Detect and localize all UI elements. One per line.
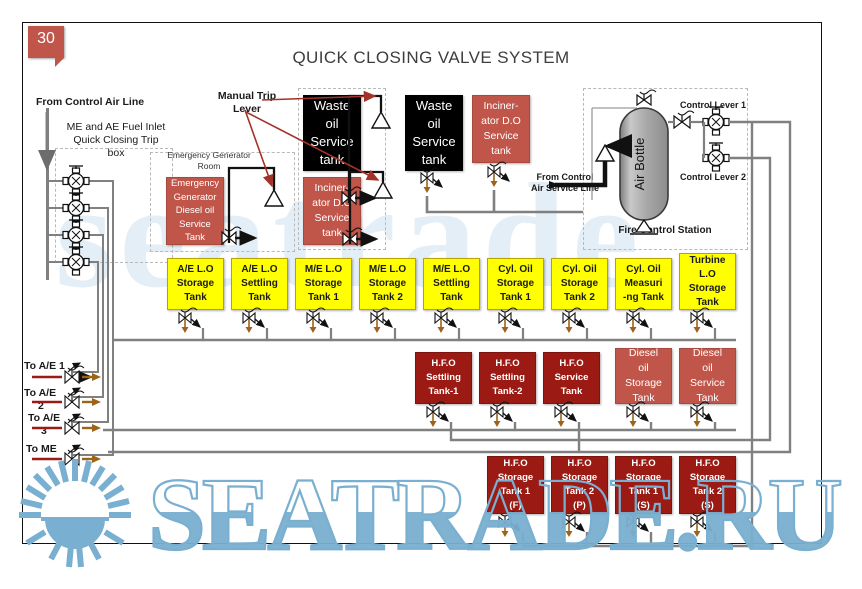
tank-cyl-oil-storage-tank-2[interactable]: Cyl. Oil Storage Tank 2 [551,258,608,310]
label-manual-trip-lever-line1: Manual Trip [192,90,302,103]
tank-line: Tank [175,291,216,305]
tank-line: Tank 1 [624,485,663,499]
tank-incinerator-do-service-tank-1[interactable]: Inciner- ator D.O Service tank [303,177,361,245]
tank-line: H.F.O [553,357,591,371]
tank-line: Generator [169,191,221,205]
tank-line: ator D.O [479,114,523,129]
tank-line: Cyl. Oil [559,263,600,277]
tank-me-lo-storage-tank-1[interactable]: M/E L.O Storage Tank 1 [295,258,352,310]
tank-line: Cyl. Oil [621,263,666,277]
tank-line: M/E L.O [303,263,344,277]
tank-line: Tank 2 [559,291,600,305]
pipe-outlet-rail-1 [73,371,99,373]
label-trip-box-line1: ME and AE Fuel Inlet [56,121,176,134]
label-to-ae-1: To A/E 1 [24,360,65,373]
tank-line: Inciner- [310,181,354,196]
tank-line: H.F.O [424,357,463,371]
tank-line: tank [310,226,354,241]
tank-line: Storage [175,277,216,291]
tank-line: Inciner- [479,99,523,114]
tank-line: (S) [688,499,727,513]
tank-line: Storage [495,277,536,291]
tank-hfo-service-tank[interactable]: H.F.O Service Tank [543,352,600,404]
tank-line: Storage [688,471,727,485]
tank-line: tank [479,144,523,159]
tank-hfo-storage-tank-1-f[interactable]: H.F.O Storage Tank 1 (F) [487,456,544,514]
tank-line: Turbine [687,254,728,268]
tank-line: Diesel [688,346,727,361]
tank-line: -ng Tank [621,291,666,305]
tank-line: Service [553,371,591,385]
tank-line: Tank-2 [488,385,527,399]
tank-line: Tank [688,391,727,406]
pipe-valve-stub-4 [49,261,65,263]
label-control-lever-2: Control Lever 2 [680,172,770,183]
label-fire-control-station: Fire Control Station [600,224,730,237]
pipe-trip-riser-1 [112,180,114,456]
tank-hfo-storage-tank-2-s[interactable]: H.F.O Storage Tank 2 (S) [679,456,736,514]
tank-line: Storage [687,282,728,296]
tank-line: Tank 1 [496,485,535,499]
label-to-ae-3-line1: To A/E [28,412,60,425]
tank-line: Diesel [623,346,664,361]
tank-cyl-oil-storage-tank-1[interactable]: Cyl. Oil Storage Tank 1 [487,258,544,310]
tank-line: A/E L.O [239,263,280,277]
tank-line: Storage [623,376,664,391]
tank-line: Storage [303,277,344,291]
tank-line: oil [410,115,457,133]
label-control-lever-1: Control Lever 1 [680,100,770,111]
tank-line: Settling [424,371,463,385]
pipe-outlet-rail-3 [73,421,109,423]
tank-line: H.F.O [560,457,599,471]
pipe-trip-riser-2 [107,207,109,423]
tank-line: Tank 1 [303,291,344,305]
tank-line: A/E L.O [175,263,216,277]
tank-line: Tank [169,231,221,245]
tank-line: Service [169,218,221,232]
tank-line: (P) [560,499,599,513]
pipe-valve-stub-3 [49,234,65,236]
tank-diesel-oil-storage-tank[interactable]: Diesel oil Storage Tank [615,348,672,404]
tank-line: M/E L.O [367,263,408,277]
tank-hfo-settling-tank-1[interactable]: H.F.O Settling Tank-1 [415,352,472,404]
tank-line: Storage [560,471,599,485]
tank-line: Diesel oil [169,204,221,218]
pipe-trip-riser-3 [102,234,104,398]
tank-line: Tank 2 [560,485,599,499]
label-emergency-generator-room-line2: Room [150,161,268,172]
tank-waste-oil-service-tank-2[interactable]: Waste oil Service tank [405,95,463,171]
tank-line: Storage [367,277,408,291]
pipe-outlet-rail-4 [73,454,114,456]
page-title: QUICK CLOSING VALVE SYSTEM [0,48,862,68]
tank-line: (S) [624,499,663,513]
tank-line: Service [410,133,457,151]
pipe-air-feed-down [46,168,49,280]
tank-line: Tank 2 [688,485,727,499]
pipe-outlet-rail-2 [73,396,104,398]
pipe-valve-stub-2 [49,207,65,209]
tank-line: Tank [431,291,472,305]
tank-me-lo-settling-tank[interactable]: M/E L.O Settling Tank [423,258,480,310]
tank-line: H.F.O [496,457,535,471]
tank-ae-lo-storage-tank[interactable]: A/E L.O Storage Tank [167,258,224,310]
tank-line: Settling [431,277,472,291]
tank-line: tank [410,151,457,169]
label-to-me: To ME [26,443,57,456]
label-to-ae-2-line1: To A/E [24,387,56,400]
tank-line: Tank [687,296,728,310]
tank-turbine-lo-storage-tank[interactable]: Turbine L.O Storage Tank [679,253,736,310]
tank-ae-lo-settling-tank[interactable]: A/E L.O Settling Tank [231,258,288,310]
tank-line: oil [308,115,355,133]
tank-line: H.F.O [688,457,727,471]
tank-line: Service [310,211,354,226]
tank-hfo-settling-tank-2[interactable]: H.F.O Settling Tank-2 [479,352,536,404]
tank-line: Emergency [169,177,221,191]
tank-me-lo-storage-tank-2[interactable]: M/E L.O Storage Tank 2 [359,258,416,310]
tank-hfo-storage-tank-2-p[interactable]: H.F.O Storage Tank 2 (P) [551,456,608,514]
tank-emergency-generator-diesel-oil-service-tank[interactable]: Emergency Generator Diesel oil Service T… [166,177,224,245]
tank-line: oil [623,361,664,376]
tank-line: Tank [239,291,280,305]
tank-line: oil [688,361,727,376]
tank-line: Service [688,376,727,391]
tank-line: tank [308,151,355,169]
tank-line: H.F.O [624,457,663,471]
label-trip-box-line2: Quick Closing Trip [56,134,176,147]
pipe-trip-out-1 [88,180,114,182]
tank-line: Tank-1 [424,385,463,399]
label-to-ae-3-line2: 3 [41,425,47,438]
slide-canvas: seatrade 30 QUICK CLOSING VALVE SYSTEM F… [0,0,862,589]
tank-line: Tank 2 [367,291,408,305]
tank-line: M/E L.O [431,263,472,277]
label-from-control-air-service-line2: Air Service Line [520,183,610,194]
tank-line: Storage [496,471,535,485]
tank-line: Tank 1 [495,291,536,305]
tank-incinerator-do-service-tank-2[interactable]: Inciner- ator D.O Service tank [472,95,530,163]
tank-line: H.F.O [488,357,527,371]
tank-line: L.O [687,268,728,282]
tank-line: Storage [559,277,600,291]
label-manual-trip-lever-line2: Lever [192,103,302,116]
tank-line: Waste [308,97,355,115]
pipe-trip-out-2 [88,207,109,209]
page-number-text: 30 [37,30,55,47]
pipe-trip-riser-4 [97,261,99,373]
tank-line: Service [308,133,355,151]
tank-diesel-oil-service-tank[interactable]: Diesel oil Service Tank [679,348,736,404]
tank-line: Service [479,129,523,144]
tank-line: (F) [496,499,535,513]
tank-hfo-storage-tank-1-s[interactable]: H.F.O Storage Tank 1 (S) [615,456,672,514]
tank-line: Waste [410,97,457,115]
label-from-control-air-line: From Control Air Line [36,96,176,109]
tank-line: Cyl. Oil [495,263,536,277]
tank-line: Measuri [621,277,666,291]
tank-waste-oil-service-tank-1[interactable]: Waste oil Service tank [303,95,361,171]
pipe-air-feed-vertical [46,108,49,168]
tank-line: Settling [239,277,280,291]
tank-cyl-oil-measuring-tank[interactable]: Cyl. Oil Measuri -ng Tank [615,258,672,310]
tank-line: Storage [624,471,663,485]
tank-line: Tank [623,391,664,406]
tank-line: ator D.O [310,196,354,211]
label-emergency-generator-room-line1: Emergency Generator [150,150,268,161]
tank-line: Tank [553,385,591,399]
label-from-control-air-service-line1: From Control [520,172,610,183]
tank-line: Settling [488,371,527,385]
pipe-valve-stub-1 [49,180,65,182]
